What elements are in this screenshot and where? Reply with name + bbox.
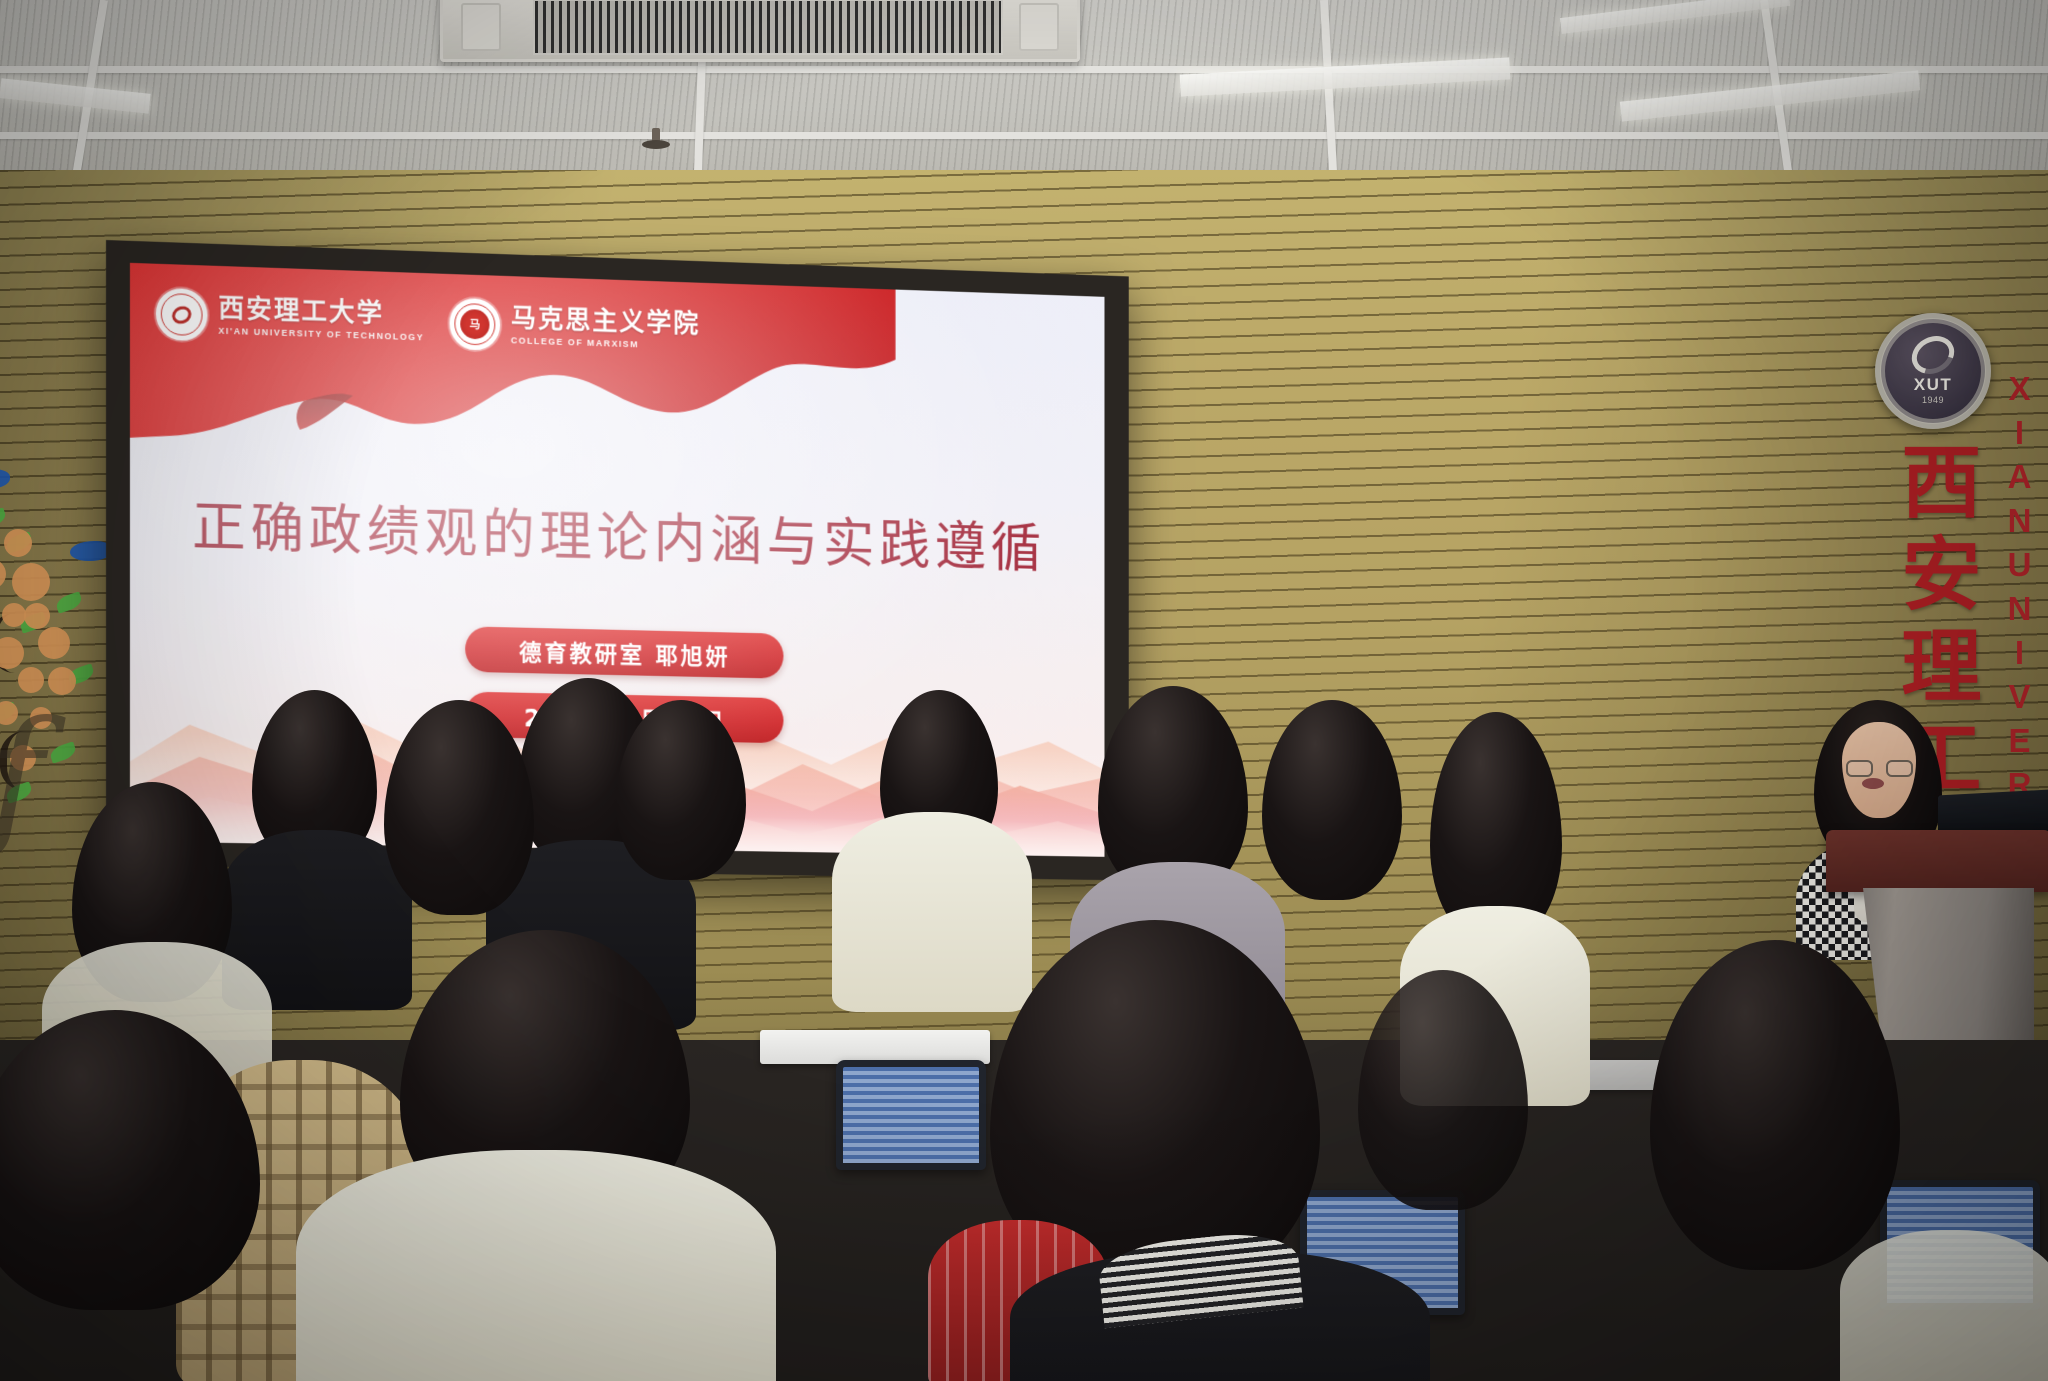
blossom-icon: [24, 603, 50, 629]
air-conditioner-vent-icon: [440, 0, 1080, 62]
leaf-icon: [48, 741, 77, 763]
slide-ribbon-header: 西安理工大学 XI'AN UNIVERSITY OF TECHNOLOGY 马 …: [130, 263, 896, 460]
wall-script-letter: f: [0, 690, 44, 864]
ac-vent-side-panel: [461, 3, 501, 51]
lecture-hall-scene: f XUT 1949 西安理工 XIANUNIVERS: [0, 0, 2048, 1381]
blossom-icon: [48, 667, 76, 695]
blossom-icon: [38, 627, 70, 659]
audience-body: [832, 812, 1032, 1012]
presenter-mouth: [1862, 778, 1884, 789]
xut-seal-icon: [156, 288, 208, 342]
seal-ring: [454, 303, 495, 346]
slide-title: 正确政绩观的理论内涵与实践遵循: [130, 481, 1105, 584]
logo-chinese-name: 西安理工大学: [218, 296, 424, 330]
fire-sprinkler-icon: [648, 128, 664, 154]
logo-college-of-marxism: 马 马克思主义学院 COLLEGE OF MARXISM: [450, 298, 701, 358]
xut-wall-emblem-icon: XUT 1949: [1875, 313, 1991, 429]
audience-body: [296, 1150, 776, 1381]
blossom-icon: [2, 603, 26, 627]
logo-text-block: 西安理工大学 XI'AN UNIVERSITY OF TECHNOLOGY: [218, 296, 424, 343]
blossom-icon: [0, 559, 6, 589]
leaf-icon: [0, 507, 8, 529]
blossom-icon: [12, 563, 50, 601]
ac-vent-side-panel: [1019, 3, 1059, 51]
ceiling-grid-line: [0, 132, 2048, 139]
glasses-icon: [1886, 760, 1913, 777]
ac-grille: [533, 0, 1003, 55]
logo-text-block: 马克思主义学院 COLLEGE OF MARXISM: [511, 306, 700, 352]
glasses-icon: [1846, 760, 1873, 777]
ceiling-grid-line: [0, 66, 2048, 73]
marxism-seal-icon: 马: [450, 298, 501, 351]
desk: [760, 1030, 990, 1064]
slide-presenter-pill: 德育教研室 耶旭妍: [465, 626, 783, 678]
podium-top-surface: [1826, 830, 2048, 892]
chair: [836, 1060, 986, 1170]
logo-xian-university: 西安理工大学 XI'AN UNIVERSITY OF TECHNOLOGY: [156, 288, 424, 349]
leaf-icon: [54, 591, 83, 613]
ceiling: [0, 0, 2048, 196]
logo-chinese-name: 马克思主义学院: [511, 306, 700, 339]
blossom-icon: [4, 529, 32, 557]
wall-vertical-english-text: XIANUNIVERS: [2000, 370, 2038, 854]
bird-icon: [0, 469, 10, 489]
audience-body: [1840, 1230, 2048, 1381]
